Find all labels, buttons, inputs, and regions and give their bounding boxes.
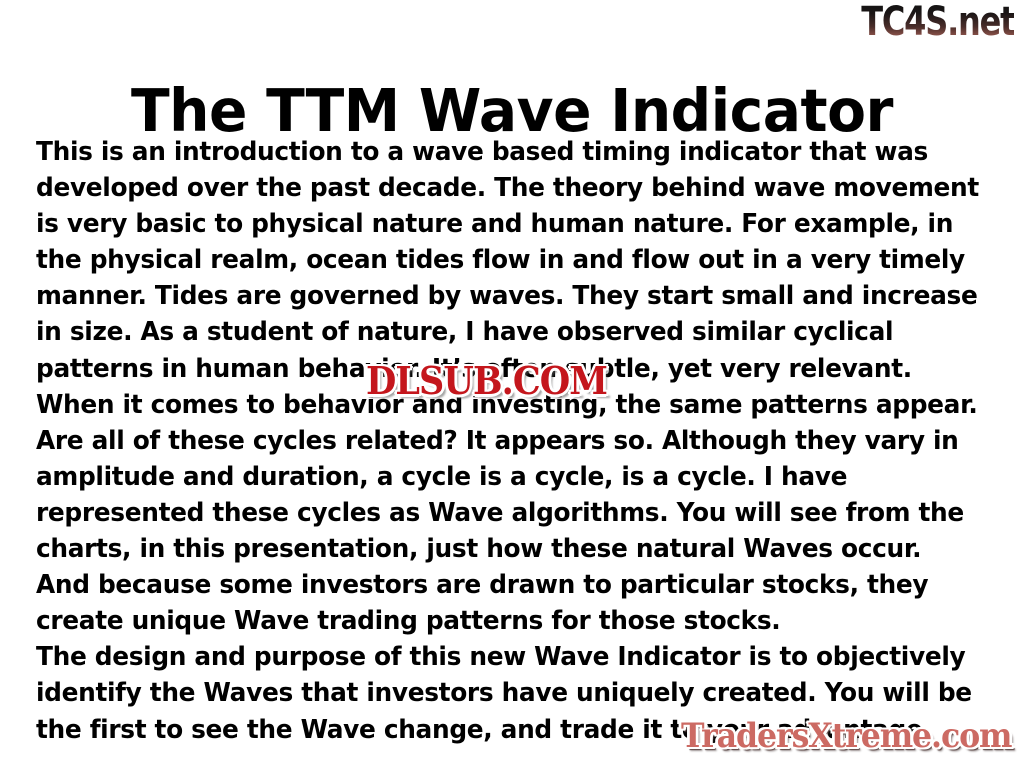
presentation-slide: TC4S.net The TTM Wave Indicator This is … — [0, 0, 1024, 768]
body-paragraph: This is an introduction to a wave based … — [36, 134, 960, 748]
brand-logo-tradersxtreme: TradersXtreme.com — [681, 716, 1011, 756]
body-line: This is an introduction to a wave based … — [36, 134, 960, 170]
body-line: represented these cycles as Wave algorit… — [36, 495, 960, 531]
body-line: identify the Waves that investors have u… — [36, 675, 960, 711]
body-line: developed over the past decade. The theo… — [36, 170, 960, 206]
body-line: charts, in this presentation, just how t… — [36, 531, 960, 567]
body-line: amplitude and duration, a cycle is a cyc… — [36, 459, 960, 495]
body-line: is very basic to physical nature and hum… — [36, 206, 960, 242]
body-line: The design and purpose of this new Wave … — [36, 639, 960, 675]
body-line: And because some investors are drawn to … — [36, 567, 960, 603]
brand-logo-tc4s: TC4S.net — [861, 2, 1014, 42]
page-title: The TTM Wave Indicator — [20, 80, 1003, 142]
watermark-dlsub: DLSUB.COM — [366, 360, 607, 402]
body-line: manner. Tides are governed by waves. The… — [36, 278, 960, 314]
body-line: create unique Wave trading patterns for … — [36, 603, 960, 639]
body-line: Are all of these cycles related? It appe… — [36, 423, 960, 459]
body-line: the physical realm, ocean tides flow in … — [36, 242, 960, 278]
body-line: in size. As a student of nature, I have … — [36, 314, 960, 350]
